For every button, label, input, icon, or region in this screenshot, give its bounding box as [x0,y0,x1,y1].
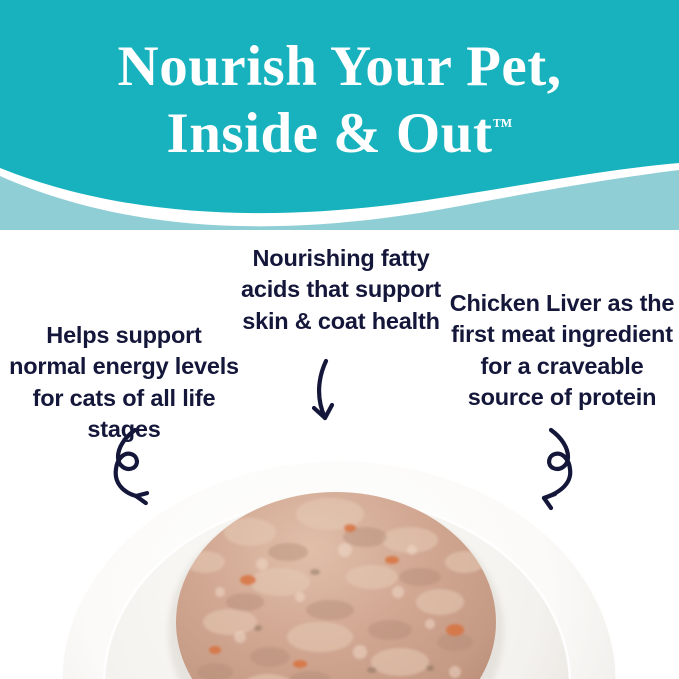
header-banner: Nourish Your Pet, Inside & Out™ [0,0,679,230]
bowl-illustration [0,432,679,679]
banner-wave-shape [0,0,679,230]
callout-energy: Helps support normal energy levels for c… [8,320,240,445]
curved-arrow-down-icon [298,358,370,432]
wave-main [0,0,679,213]
callout-fatty-acids: Nourishing fatty acids that support skin… [228,243,454,337]
bowl-photo [0,432,679,679]
callout-chicken-liver: Chicken Liver as the first meat ingredie… [448,288,676,413]
pet-food-infographic: Nourish Your Pet, Inside & Out™ Helps su… [0,0,679,679]
